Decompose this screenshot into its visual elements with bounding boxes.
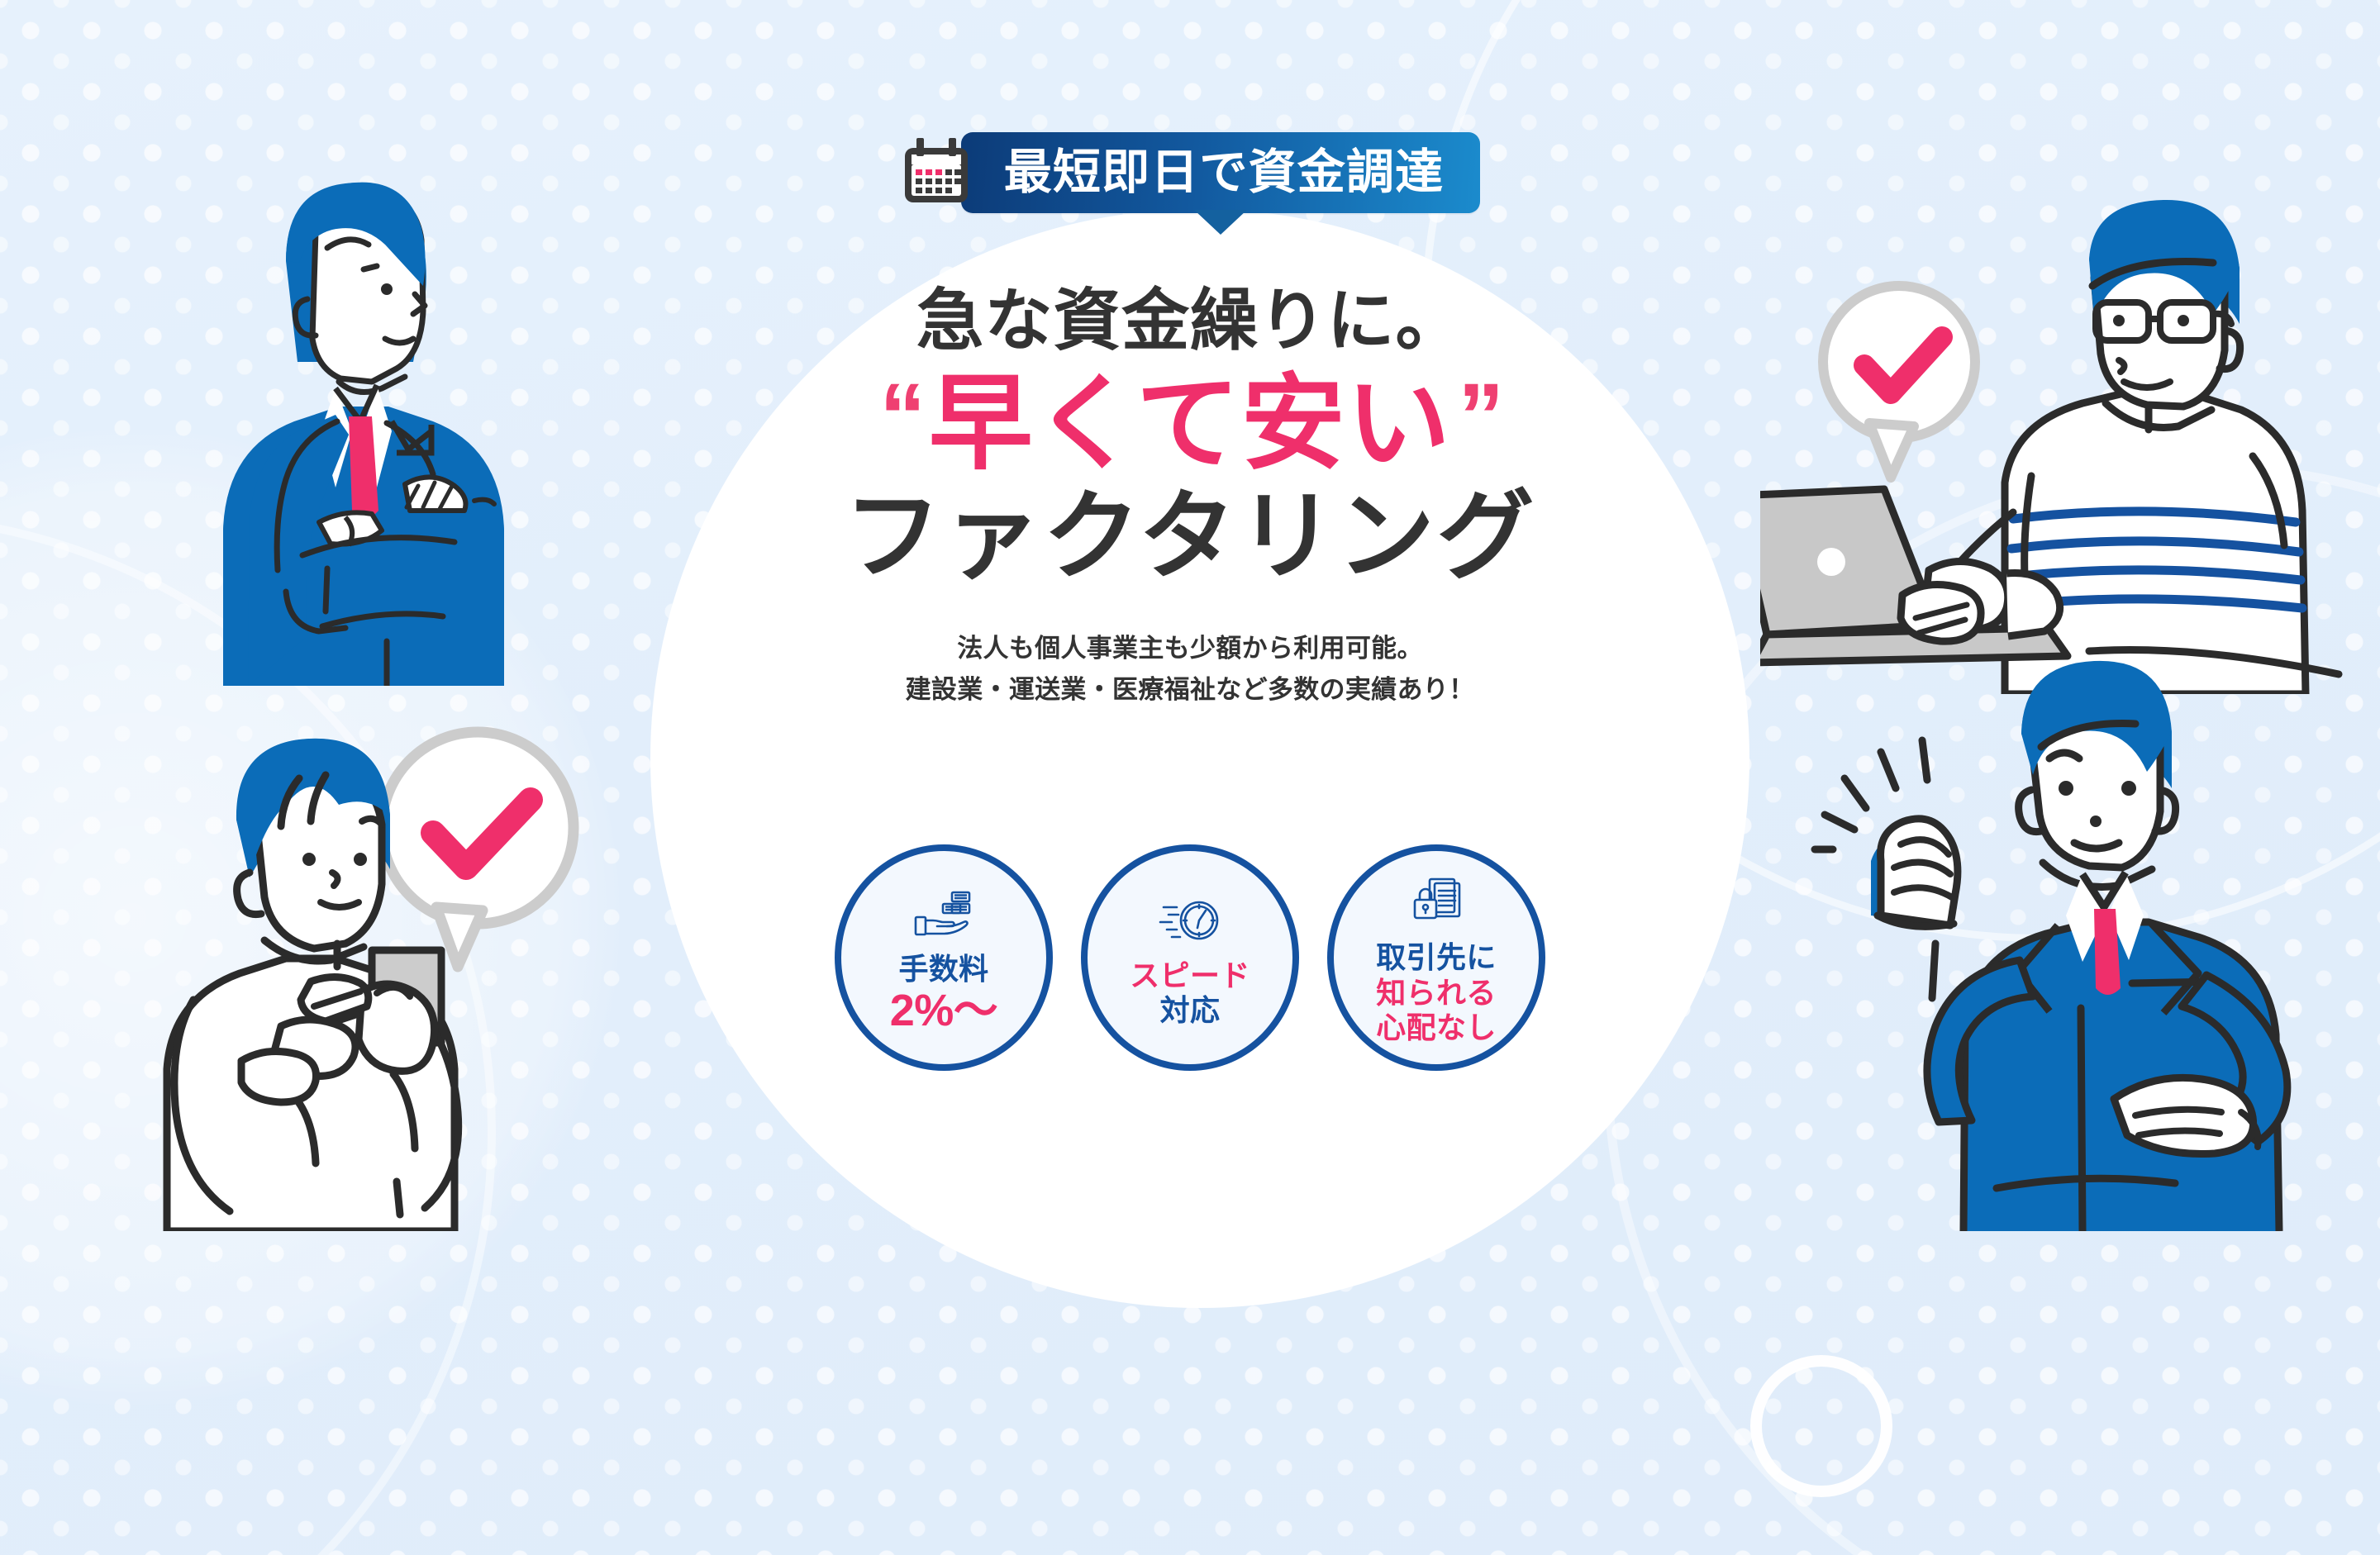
badge-label: 最短即日で資金調達 xyxy=(1004,145,1444,199)
feature-privacy-line2: 知られる xyxy=(1376,976,1496,1011)
hero-text-block: 急な資金繰りに。 “ 早くて安い ” ファクタリング 法人も個人事業主も少額から… xyxy=(0,284,2380,711)
calendar-icon xyxy=(900,138,973,207)
feature-privacy[interactable]: 取引先に 知られる 心配なし xyxy=(1327,844,1545,1071)
feature-speed[interactable]: スピード 対応 xyxy=(1081,844,1299,1071)
feature-privacy-line1: 取引先に xyxy=(1376,940,1496,975)
hero-emphasis-text: 早くて安い xyxy=(929,369,1452,479)
hand-coins-icon xyxy=(909,886,978,947)
hero-subtext-line2: 建設業・運送業・医療福祉など多数の実績あり！ xyxy=(906,669,1475,711)
hero-subtext: 法人も個人事業主も少額から利用可能。 建設業・運送業・医療福祉など多数の実績あり… xyxy=(906,628,1475,711)
locked-document-icon xyxy=(1402,874,1471,935)
feature-privacy-text: 取引先に 知られる 心配なし xyxy=(1376,940,1496,1045)
ring-decoration-bottom-right xyxy=(1750,1355,1892,1497)
hero-subtext-line1: 法人も個人事業主も少額から利用可能。 xyxy=(906,628,1475,669)
hero-emphasis-row: “ 早くて安い ” xyxy=(879,369,1501,479)
feature-fee-line1: 手数料 xyxy=(890,952,997,987)
feature-speed-line2: 対応 xyxy=(1130,993,1249,1028)
badge-pill: 最短即日で資金調達 xyxy=(961,132,1480,213)
quote-open-mark: “ xyxy=(879,375,922,459)
quote-close-mark: ” xyxy=(1458,375,1501,459)
hero-headline-line1: 急な資金繰りに。 xyxy=(916,284,1464,359)
top-badge: 最短即日で資金調達 xyxy=(0,132,2380,213)
feature-privacy-line3: 心配なし xyxy=(1376,1011,1496,1045)
feature-speed-line1: スピード xyxy=(1130,958,1249,993)
feature-badges: 手数料 2%〜 スピード 対応 xyxy=(0,844,2380,1071)
feature-speed-text: スピード 対応 xyxy=(1130,958,1249,1029)
feature-fee-line2: 2%〜 xyxy=(890,987,997,1034)
feature-fee[interactable]: 手数料 2%〜 xyxy=(835,844,1053,1071)
speed-clock-icon xyxy=(1155,892,1225,953)
hero-headline-line3: ファクタリング xyxy=(844,484,1536,592)
feature-fee-text: 手数料 2%〜 xyxy=(890,952,997,1035)
badge-tail-arrow xyxy=(1194,210,1247,235)
